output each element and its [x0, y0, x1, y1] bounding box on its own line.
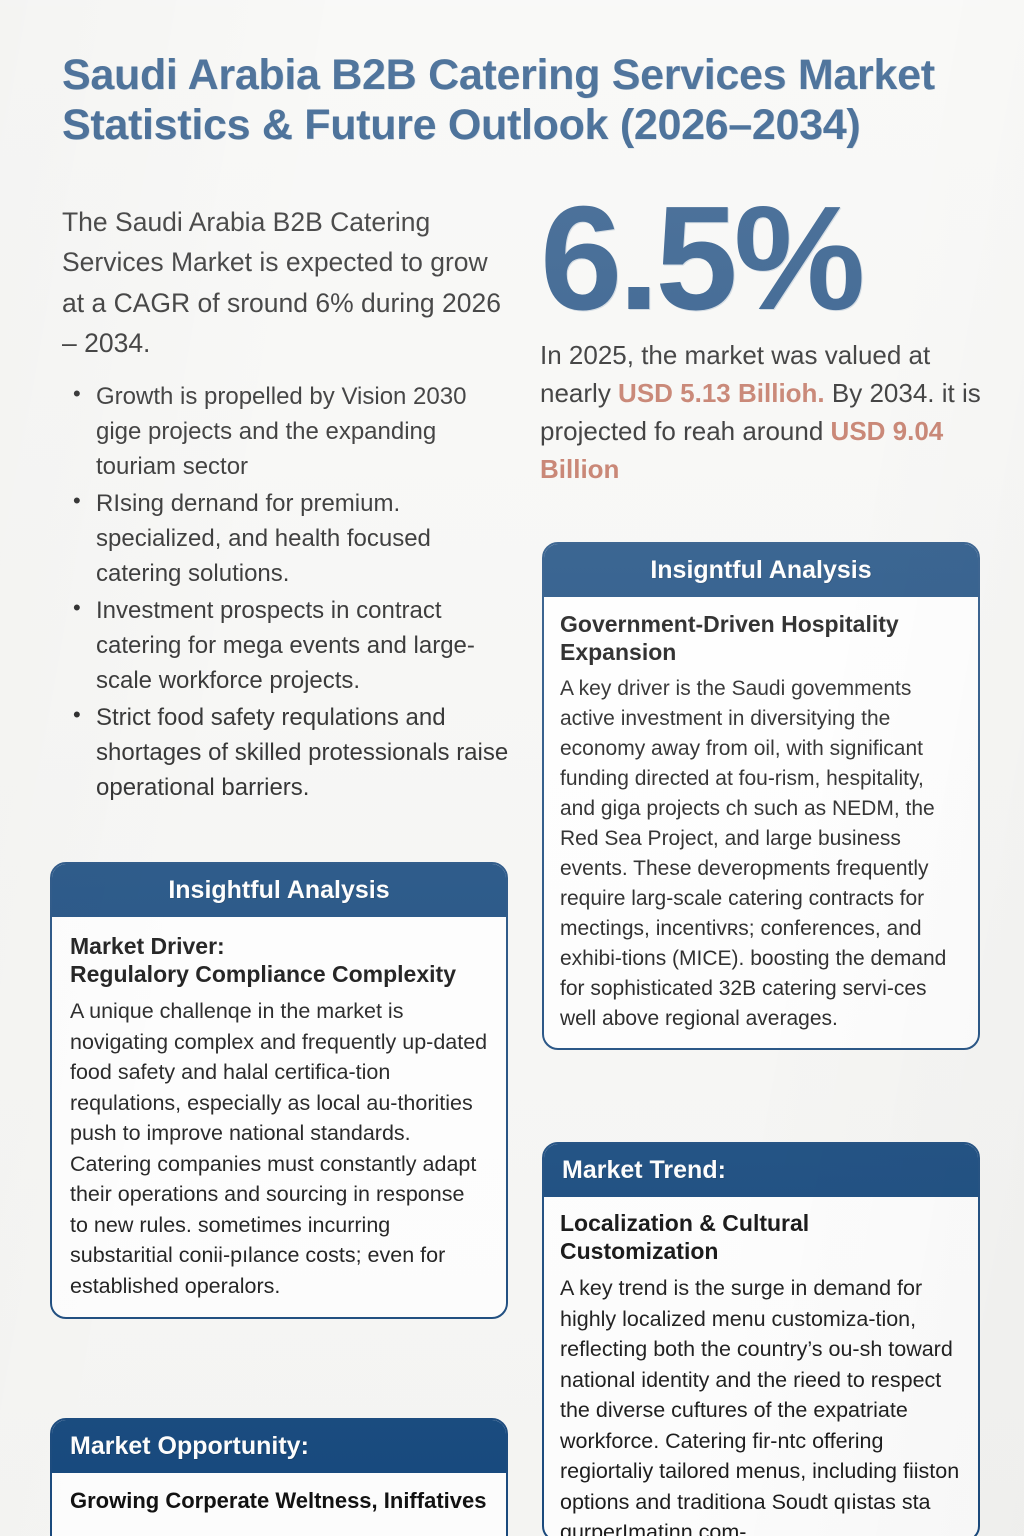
card-header-label: Insigntful Analysis: [544, 544, 978, 597]
highlights-list: Growth is propelled by Vision 2030 gige …: [62, 379, 512, 805]
card-body: Growing Corperate Weltness, Iniffatives: [52, 1473, 506, 1531]
valuation-2025-value: USD 5.13 Billioh.: [618, 378, 825, 408]
card-subtitle: Growing Corperate Weltness, Iniffatives: [70, 1488, 488, 1515]
card-subtitle: Government-Driven Hospitality Expansion: [560, 610, 962, 666]
page-title: Saudi Arabia B2B Catering Services Marke…: [62, 51, 962, 151]
list-item: Strict food safety requlations and short…: [96, 700, 512, 805]
card-insightful-analysis-market-driver: Insightful Analysis Market Driver: Regul…: [50, 862, 508, 1319]
card-body: Government-Driven Hospitality Expansion …: [544, 597, 978, 1048]
card-header-label: Market Trend:: [544, 1144, 978, 1197]
list-item: Growth is propelled by Vision 2030 gige …: [96, 379, 512, 484]
card-body: Localization & Cultural Customization A …: [544, 1197, 978, 1536]
market-valuation-text: In 2025, the market was valued at nearly…: [540, 337, 985, 489]
card-market-opportunity: Market Opportunity: Growing Corperate We…: [50, 1418, 508, 1536]
right-column: 6.5% In 2025, the market was valued at n…: [540, 186, 985, 489]
card-header-label: Insightful Analysis: [52, 864, 506, 917]
card-text: A unique challenqe in the market is novi…: [70, 996, 488, 1301]
card-header-label: Market Opportunity:: [52, 1420, 506, 1473]
list-item: RIsing dernand for premium. specialized,…: [96, 486, 512, 591]
infographic-page: Saudi Arabia B2B Catering Services Marke…: [0, 0, 1024, 1536]
cagr-stat-value: 6.5%: [540, 186, 985, 331]
card-market-trend: Market Trend: Localization & Cultural Cu…: [542, 1142, 980, 1536]
card-subtitle: Localization & Cultural Customization: [560, 1209, 962, 1265]
card-subtitle: Market Driver: Regulalory Compliance Com…: [70, 932, 488, 988]
intro-paragraph: The Saudi Arabia B2B Catering Services M…: [62, 202, 512, 363]
card-text: A key trend is the surge in demand for h…: [560, 1273, 962, 1536]
left-column: The Saudi Arabia B2B Catering Services M…: [62, 202, 512, 807]
card-body: Market Driver: Regulalory Compliance Com…: [52, 917, 506, 1317]
card-insightful-analysis-government: Insigntful Analysis Government-Driven Ho…: [542, 542, 980, 1050]
card-text: A key driver is the Saudi govemments act…: [560, 674, 962, 1034]
list-item: Investment prospects in contract caterin…: [96, 593, 512, 698]
